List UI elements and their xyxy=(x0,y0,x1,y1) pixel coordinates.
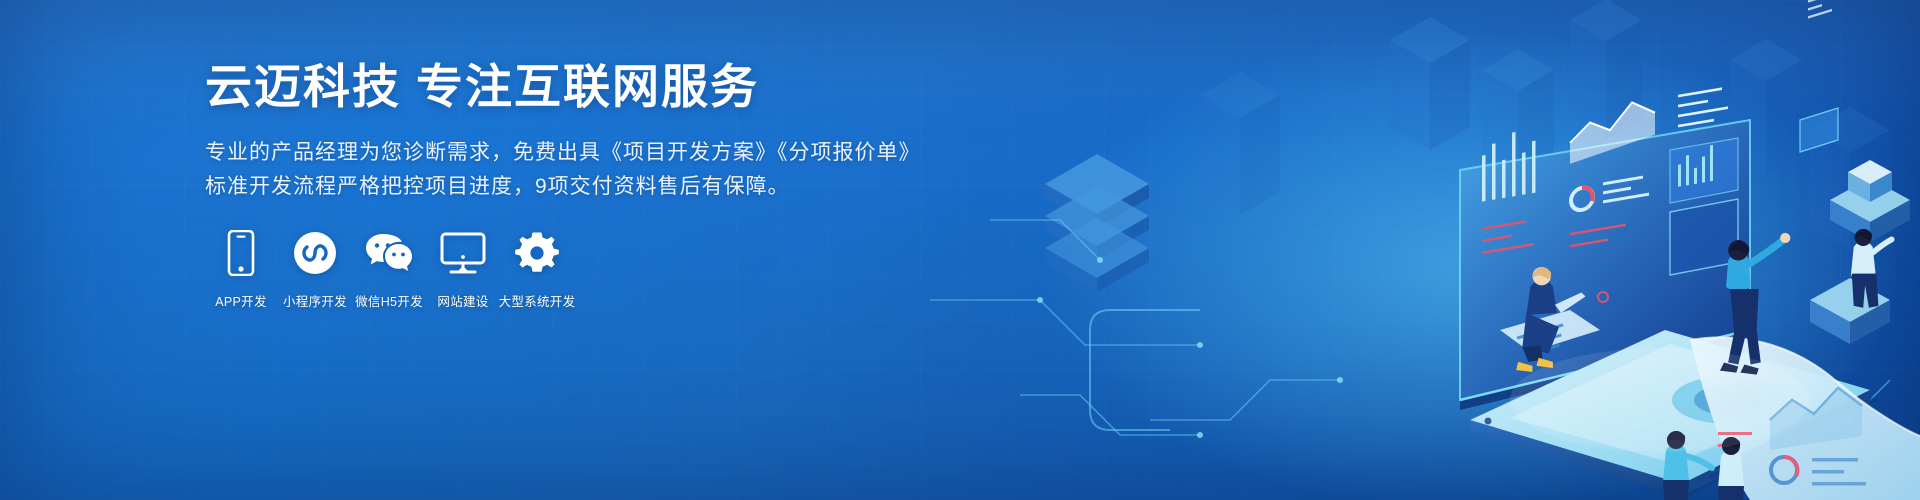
service-item-app[interactable]: APP开发 xyxy=(205,228,277,310)
subtitle-line-2: 标准开发流程严格把控项目进度，9项交付资料售后有保障。 xyxy=(205,170,965,204)
illustration-isometric-data-platform xyxy=(870,0,1920,500)
service-item-large-system[interactable]: 大型系统开发 xyxy=(501,228,573,310)
wechat-icon xyxy=(364,228,414,278)
monitor-icon xyxy=(438,228,488,278)
service-label-large-system: 大型系统开发 xyxy=(499,291,576,310)
page-title: 云迈科技 专注互联网服务 xyxy=(205,60,965,114)
banner-text-block: 云迈科技 专注互联网服务 专业的产品经理为您诊断需求，免费出具《项目开发方案》《… xyxy=(205,60,965,204)
service-label-wechat-h5: 微信H5开发 xyxy=(355,291,423,310)
service-item-wechat-h5[interactable]: 微信H5开发 xyxy=(353,228,425,310)
hero-banner: 云迈科技 专注互联网服务 专业的产品经理为您诊断需求，免费出具《项目开发方案》《… xyxy=(0,0,1920,500)
service-icons-row: APP开发 小程序开发 微信 xyxy=(205,228,573,310)
service-item-website[interactable]: 网站建设 xyxy=(427,228,499,310)
service-label-app: APP开发 xyxy=(215,291,267,310)
service-item-mini-program[interactable]: 小程序开发 xyxy=(279,228,351,310)
mini-program-icon xyxy=(290,228,340,278)
service-label-mini-program: 小程序开发 xyxy=(283,291,347,310)
subtitle-line-1: 专业的产品经理为您诊断需求，免费出具《项目开发方案》《分项报价单》 xyxy=(205,136,965,170)
service-label-website: 网站建设 xyxy=(437,291,488,310)
gear-icon xyxy=(512,228,562,278)
banner-subtitle: 专业的产品经理为您诊断需求，免费出具《项目开发方案》《分项报价单》 标准开发流程… xyxy=(205,136,965,204)
mobile-phone-icon xyxy=(216,228,266,278)
